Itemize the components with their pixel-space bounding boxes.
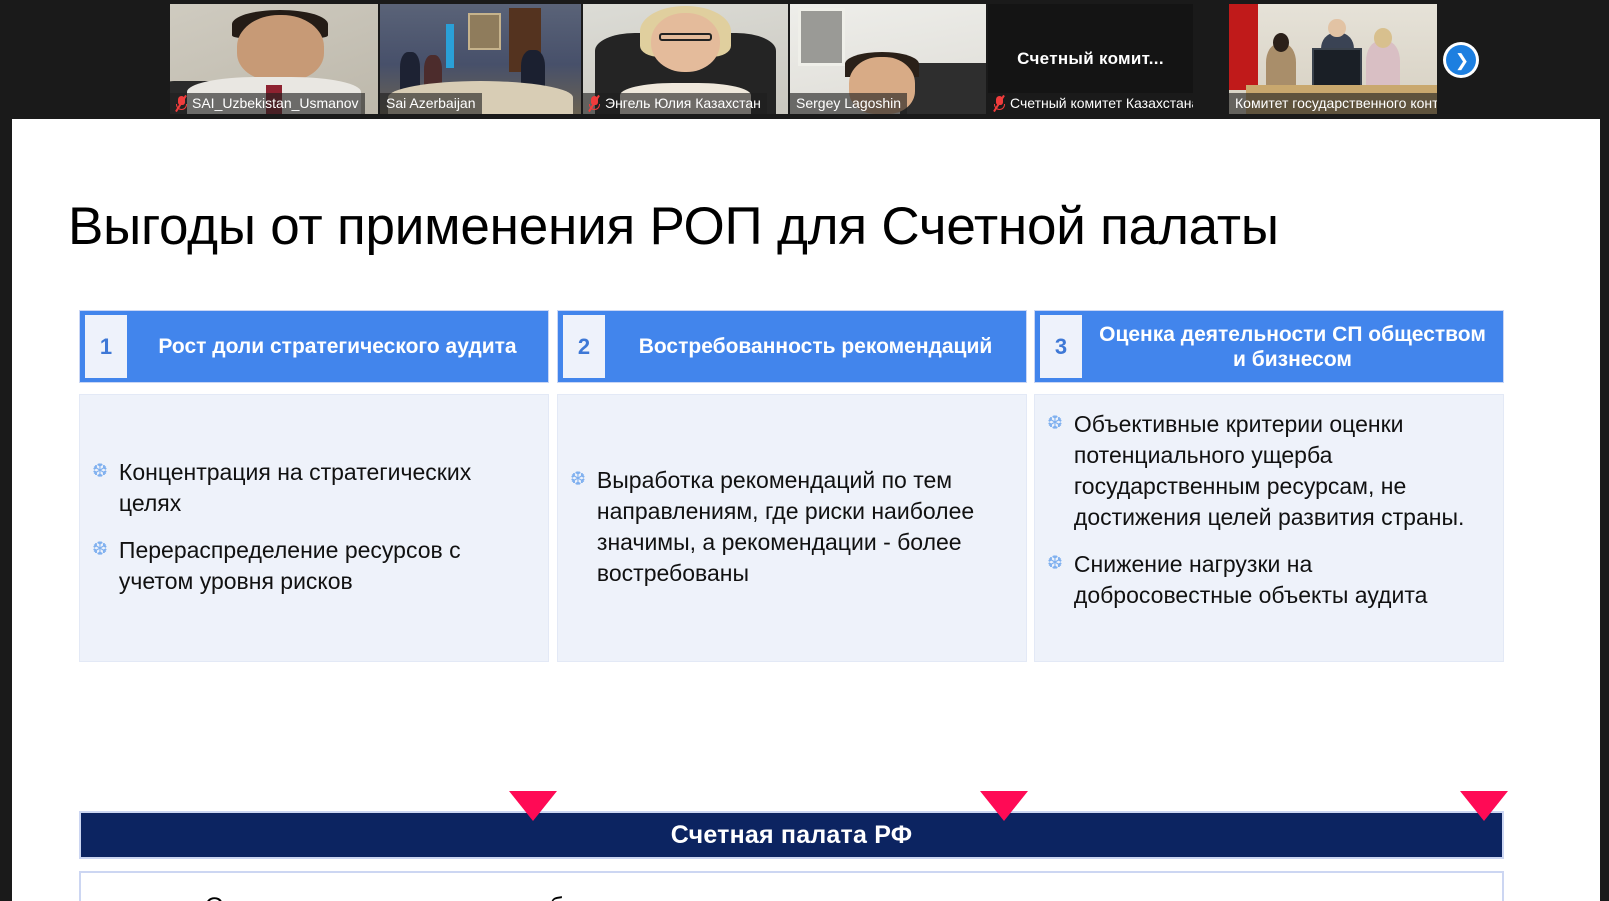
snowflake-bullet-icon: ❆ [1047,551,1063,577]
list-item-text: Выработка рекомендаций по тем направлени… [597,465,1010,589]
column-header: 1 Рост доли стратегического аудита [79,310,549,383]
page-title: Выгоды от применения РОП для Счетной пал… [68,197,1518,257]
participant-namebar: Энгель Юлия Казахстан [583,93,767,114]
column-header: 2 Востребованность рекомендаций [557,310,1027,383]
list-item: ❆ Концентрация на стратегических целях [92,457,532,519]
column-heading: Востребованность рекомендаций [605,311,1026,382]
participant-thumbnail[interactable]: Энгель Юлия Казахстан [583,4,788,114]
benefit-column-2: 2 Востребованность рекомендаций ❆ Вырабо… [557,310,1027,662]
participant-name: Счетный комитет Казахстана [1010,95,1193,111]
bullet-dot-icon: • [167,891,175,901]
participant-namebar: Счетный комитет Казахстана [988,93,1193,114]
down-arrow-icon [1460,791,1508,821]
participant-name: Sai Azerbaijan [386,95,476,111]
list-item: ❆ Выработка рекомендаций по тем направле… [570,465,1010,589]
snowflake-bullet-icon: ❆ [92,459,108,485]
chevron-right-icon: ❯ [1446,45,1476,75]
participant-namebar: Комитет государственного конт... [1229,93,1437,114]
mic-muted-icon [589,96,600,111]
snowflake-bullet-icon: ❆ [570,467,586,493]
participant-name: SAI_Uzbekistan_Usmanov [192,95,359,111]
down-arrow-icon [980,791,1028,821]
column-body: ❆ Объективные критерии оценки потенциаль… [1034,394,1504,662]
list-item-text: Оперативно реагирует на срабатывание инд… [205,891,902,901]
participant-namebar: SAI_Uzbekistan_Usmanov [170,93,365,114]
column-heading: Оценка деятельности СП обществом и бизне… [1082,311,1503,382]
list-item: ❆ Снижение нагрузки на добросовестные об… [1047,549,1487,611]
mic-muted-icon [994,96,1005,111]
participant-thumbnail[interactable]: Sai Azerbaijan [380,4,581,114]
participant-namebar: Sai Azerbaijan [380,93,482,114]
participant-thumbnail[interactable]: SAI_Uzbekistan_Usmanov [170,4,378,114]
column-header: 3 Оценка деятельности СП обществом и биз… [1034,310,1504,383]
filmstrip-next-button[interactable]: ❯ [1443,42,1479,78]
footer-box: • Оперативно реагирует на срабатывание и… [79,871,1504,901]
list-item: ❆ Объективные критерии оценки потенциаль… [1047,409,1487,533]
presentation-slide: Выгоды от применения РОП для Счетной пал… [12,119,1600,901]
mic-muted-icon [176,96,187,111]
participant-thumbnail[interactable]: Счетный комит... Счетный комитет Казахст… [988,4,1193,114]
participant-name: Комитет государственного конт... [1235,95,1437,111]
list-item-text: Концентрация на стратегических целях [119,457,532,519]
list-item: ❆ Перераспределение ресурсов с учетом ур… [92,535,532,597]
benefit-column-3: 3 Оценка деятельности СП обществом и биз… [1034,310,1504,662]
snowflake-bullet-icon: ❆ [92,537,108,563]
column-heading: Рост доли стратегического аудита [127,311,548,382]
zoom-filmstrip: SAI_Uzbekistan_Usmanov Sai Azerbaijan Эн… [0,0,1609,119]
column-number-badge: 3 [1040,315,1082,378]
participant-name: Sergey Lagoshin [796,95,901,111]
participant-namebar: Sergey Lagoshin [790,93,907,114]
participant-thumbnail-active-speaker[interactable]: Sergey Lagoshin [790,4,986,114]
column-body: ❆ Концентрация на стратегических целях ❆… [79,394,549,662]
snowflake-bullet-icon: ❆ [1047,411,1063,437]
list-item-text: Объективные критерии оценки потенциально… [1074,409,1487,533]
column-body: ❆ Выработка рекомендаций по тем направле… [557,394,1027,662]
list-item: • Оперативно реагирует на срабатывание и… [167,891,1472,901]
column-number-badge: 2 [563,315,605,378]
participant-name: Энгель Юлия Казахстан [605,95,761,111]
list-item-text: Снижение нагрузки на добросовестные объе… [1074,549,1487,611]
down-arrow-icon [509,791,557,821]
participant-thumbnail[interactable]: Комитет государственного конт... [1229,4,1437,114]
list-item-text: Перераспределение ресурсов с учетом уров… [119,535,532,597]
banner-label: Счетная палата РФ [671,821,913,850]
column-number-badge: 1 [85,315,127,378]
banner-bar: Счетная палата РФ [79,811,1504,859]
benefit-column-1: 1 Рост доли стратегического аудита ❆ Кон… [79,310,549,662]
